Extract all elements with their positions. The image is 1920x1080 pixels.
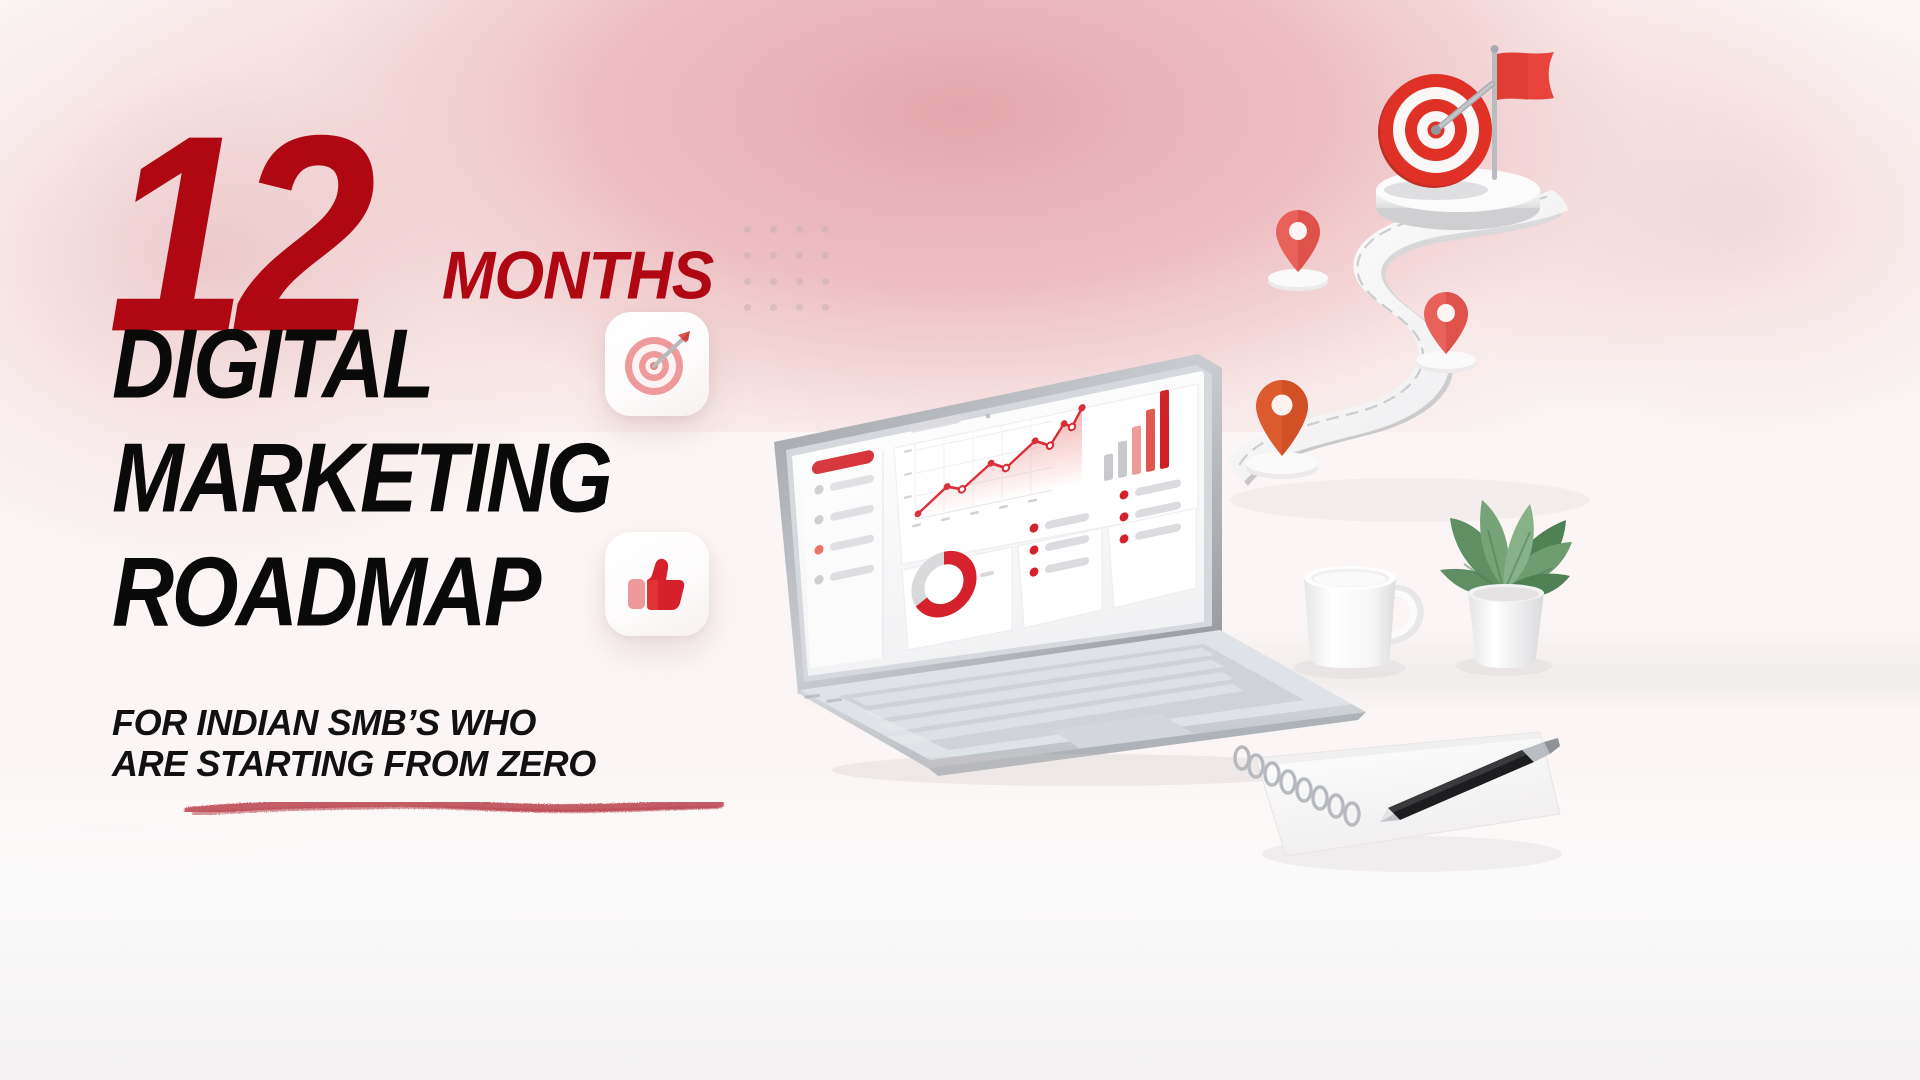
banner-stage: 12 MONTHS DIGITAL MARKETING ROADMAP FOR … [0, 0, 1920, 1080]
subtitle-line-1: FOR INDIAN SMB’S WHO [112, 702, 812, 743]
notepad-svg [1222, 722, 1572, 882]
potted-plant [1424, 460, 1584, 680]
target-dartboard-icon [618, 325, 696, 403]
potted-plant-svg [1424, 460, 1584, 680]
dashboard-screen [792, 371, 1204, 676]
eyebrow-row: 12 MONTHS [112, 108, 812, 304]
thumbs-up-icon-tile[interactable] [605, 532, 709, 636]
goal-target-podium [1340, 40, 1570, 240]
goal-flag-icon [1491, 45, 1555, 180]
headline-block: 12 MONTHS DIGITAL MARKETING ROADMAP FOR … [112, 108, 812, 784]
subtitle-underline-stroke [184, 798, 724, 820]
plant-leaves [1440, 500, 1572, 597]
target-icon-tile[interactable] [605, 312, 709, 416]
subtitle-block: FOR INDIAN SMB’S WHO ARE STARTING FROM Z… [112, 702, 812, 784]
thumbs-up-icon [622, 549, 692, 619]
map-pin-icon [1268, 210, 1328, 291]
spiral-notebook [1222, 722, 1572, 882]
page-title-line-2: MARKETING [112, 434, 812, 525]
subtitle-line-2: ARE STARTING FROM ZERO [112, 743, 812, 784]
target-podium-svg [1340, 40, 1570, 240]
dot-grid-decoration [744, 226, 834, 312]
eyebrow-unit: MONTHS [442, 236, 713, 314]
